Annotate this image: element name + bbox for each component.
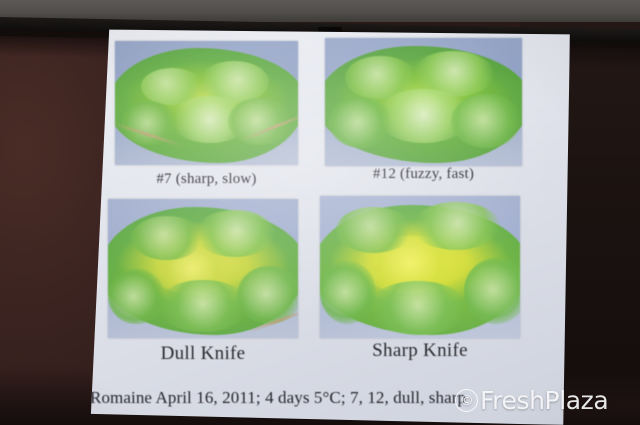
caption-photo-top-right: #12 (fuzzy, fast) (325, 166, 522, 183)
photo-top-right (325, 38, 522, 166)
leaf-frill (329, 97, 392, 148)
slide-content: #7 (sharp, slow) #12 (fuzzy, fast) (88, 28, 570, 425)
leaf-frill (157, 280, 248, 333)
caption-photo-bottom-left: Dull Knife (108, 343, 298, 365)
screenshot-root: #7 (sharp, slow) #12 (fuzzy, fast) (0, 0, 640, 425)
leaf-frill (451, 94, 522, 148)
leaf-frill (122, 101, 177, 146)
projection-screen: #7 (sharp, slow) #12 (fuzzy, fast) (0, 0, 640, 425)
leaf-frill (464, 258, 520, 323)
leaf-frill (412, 202, 500, 250)
presentation-slide: #7 (sharp, slow) #12 (fuzzy, fast) (88, 28, 570, 425)
leaf-frill (336, 207, 412, 252)
photo-bottom-right (320, 196, 520, 338)
caption-photo-top-left: #7 (sharp, slow) (115, 171, 298, 188)
caption-photo-bottom-right: Sharp Knife (320, 340, 520, 362)
photo-bottom-left (108, 199, 298, 338)
slide-footer-caption: Romaine April 16, 2011; 4 days 5°C; 7, 1… (90, 388, 466, 408)
photo-top-left (115, 41, 298, 165)
leaf-frill (368, 281, 468, 335)
leaf-frill (320, 261, 376, 323)
leaf-frill (131, 216, 203, 260)
leaf-frill (108, 269, 165, 325)
